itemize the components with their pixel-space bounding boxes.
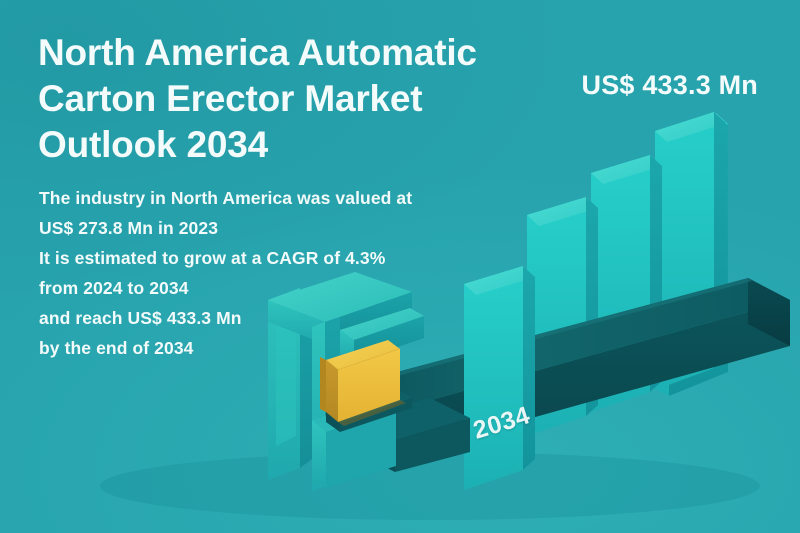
body-line-2: US$ 273.8 Mn in 2023: [39, 213, 469, 243]
body-copy: The industry in North America was valued…: [39, 183, 469, 363]
title-line-3: Outlook 2034: [38, 122, 558, 168]
title-line-1: North America Automatic: [38, 30, 558, 76]
body-line-3: It is estimated to grow at a CAGR of 4.3…: [39, 243, 469, 273]
body-line-4: from 2024 to 2034: [39, 273, 469, 303]
carton-front-face: [326, 360, 338, 422]
body-line-1: The industry in North America was valued…: [39, 183, 469, 213]
body-line-5: and reach US$ 433.3 Mn: [39, 303, 469, 333]
infographic-canvas: North America Automatic Carton Erector M…: [0, 0, 800, 533]
page-title: North America Automatic Carton Erector M…: [38, 30, 558, 168]
title-line-2: Carton Erector Market: [38, 76, 558, 122]
market-value-callout: US$ 433.3 Mn: [582, 70, 758, 101]
body-line-6: by the end of 2034: [39, 333, 469, 363]
bar-1: [464, 266, 535, 490]
